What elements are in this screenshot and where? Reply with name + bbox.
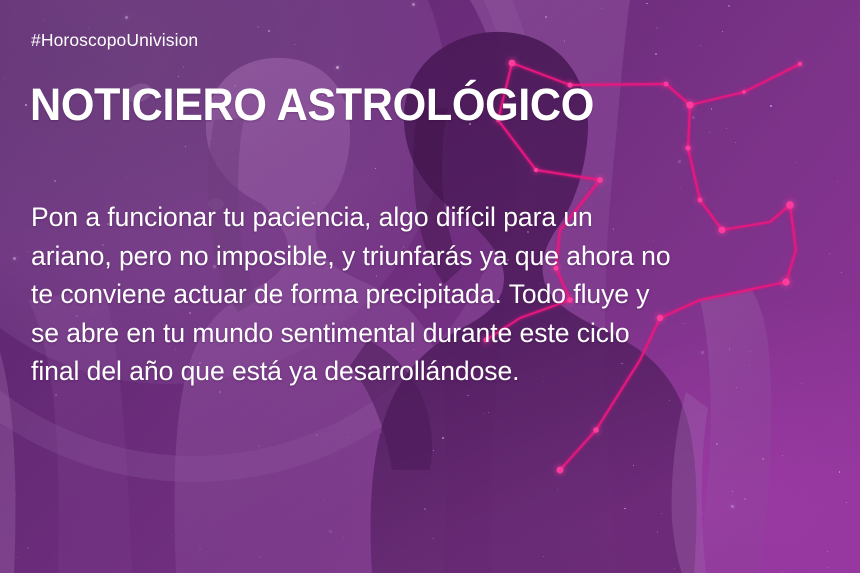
hashtag-label: #HoroscopoUnivision bbox=[31, 30, 198, 51]
page-title: NOTICIERO ASTROLÓGICO bbox=[30, 80, 594, 130]
horoscope-body-line: final del año que está ya desarrollándos… bbox=[31, 352, 831, 391]
horoscope-card: #HoroscopoUnivision NOTICIERO ASTROLÓGIC… bbox=[0, 0, 860, 573]
horoscope-body-text: Pon a funcionar tu paciencia, algo difíc… bbox=[31, 198, 831, 391]
horoscope-body-line: Pon a funcionar tu paciencia, algo difíc… bbox=[31, 198, 831, 237]
horoscope-body-line: te conviene actuar de forma precipitada.… bbox=[31, 275, 831, 314]
horoscope-body-line: ariano, pero no imposible, y triunfarás … bbox=[31, 237, 831, 276]
card-content: #HoroscopoUnivision NOTICIERO ASTROLÓGIC… bbox=[0, 0, 860, 573]
horoscope-body-line: se abre en tu mundo sentimental durante … bbox=[31, 314, 831, 353]
